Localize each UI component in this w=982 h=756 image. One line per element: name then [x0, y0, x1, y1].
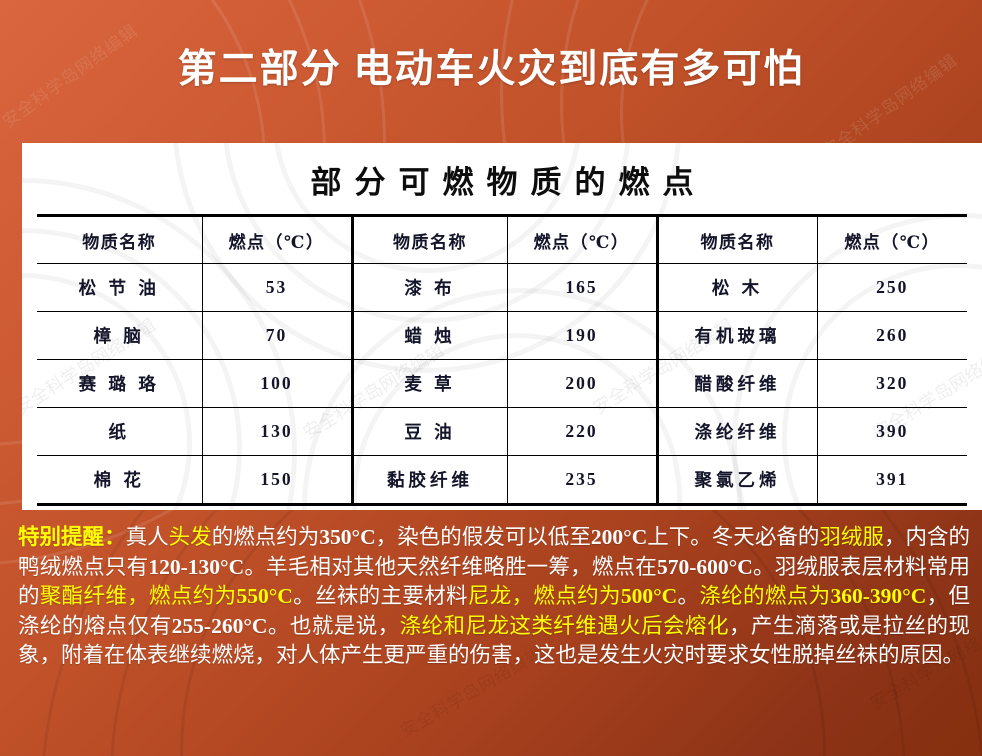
note-highlight-text: 聚酯纤维，燃点约为 [40, 584, 237, 608]
note-text: 120-130°C [148, 555, 244, 579]
substance-name-cell: 松 节 油 [37, 264, 202, 312]
table-row: 松 节 油 53 漆 布 165 松 木 250 [37, 264, 967, 312]
note-highlight-text: 特别提醒： [18, 525, 126, 549]
column-header: 燃点（℃） [202, 216, 352, 264]
substance-name-cell: 豆 油 [352, 408, 507, 456]
note-text: 。也就是说， [267, 614, 399, 638]
substance-name-cell: 松 木 [657, 264, 817, 312]
note-text: 的燃点约为 [212, 525, 320, 549]
note-highlight-text: 羽绒服 [819, 525, 884, 549]
ignition-point-cell: 391 [817, 456, 967, 505]
table-header-row: 物质名称 燃点（℃） 物质名称 燃点（℃） 物质名称 燃点（℃） [37, 216, 967, 264]
ignition-point-cell: 53 [202, 264, 352, 312]
ignition-point-cell: 390 [817, 408, 967, 456]
note-highlight-text: 头发 [169, 525, 212, 549]
column-header: 燃点（℃） [507, 216, 657, 264]
ignition-point-cell: 220 [507, 408, 657, 456]
substance-name-cell: 涤纶纤维 [657, 408, 817, 456]
note-highlight-text: 尼龙，燃点约为 [468, 584, 621, 608]
table-row: 樟 脑 70 蜡 烛 190 有机玻璃 260 [37, 312, 967, 360]
note-highlight-text: 500°C [621, 584, 677, 608]
note-text: 。丝袜的主要材料 [293, 584, 468, 608]
substance-name-cell: 纸 [37, 408, 202, 456]
table-panel: 安全科学岛网络编辑 安全科学岛网络编辑 安全科学岛网络编辑 安全科学岛网络编辑 … [22, 143, 982, 510]
page-title: 第二部分 电动车火灾到底有多可怕 [178, 38, 805, 94]
ignition-point-cell: 235 [507, 456, 657, 505]
substance-name-cell: 麦 草 [352, 360, 507, 408]
note-highlight-text: 涤纶和尼龙这类纤维遇火后会熔化 [400, 614, 729, 638]
ignition-point-cell: 190 [507, 312, 657, 360]
note-highlight-text: 360-390°C [830, 584, 926, 608]
substance-name-cell: 漆 布 [352, 264, 507, 312]
slide-root: 安全科学岛网络编辑 安全科学岛网络编辑 安全科学岛网络编辑 安全科学岛网络编辑 … [0, 0, 982, 756]
note-text: 上下。冬天必备的 [647, 525, 819, 549]
special-reminder-paragraph: 特别提醒：真人头发的燃点约为350°C，染色的假发可以低至200°C上下。冬天必… [18, 523, 970, 671]
substance-name-cell: 樟 脑 [37, 312, 202, 360]
substance-name-cell: 醋酸纤维 [657, 360, 817, 408]
note-text: 。羊毛相对其他天然纤维略胜一筹，燃点在 [244, 555, 657, 579]
column-header: 物质名称 [352, 216, 507, 264]
note-text: 200°C [591, 525, 647, 549]
ignition-point-cell: 250 [817, 264, 967, 312]
note-highlight-text: 涤纶的燃点为 [699, 584, 830, 608]
ignition-point-cell: 320 [817, 360, 967, 408]
note-text: 350°C [319, 525, 375, 549]
substance-name-cell: 赛 璐 珞 [37, 360, 202, 408]
note-text: 570-600°C [657, 555, 753, 579]
substance-name-cell: 聚氯乙烯 [657, 456, 817, 505]
ignition-point-cell: 70 [202, 312, 352, 360]
ignition-point-cell: 130 [202, 408, 352, 456]
note-text: 255-260°C [172, 614, 268, 638]
substance-name-cell: 棉 花 [37, 456, 202, 505]
ignition-point-cell: 150 [202, 456, 352, 505]
column-header: 燃点（℃） [817, 216, 967, 264]
table-row: 赛 璐 珞 100 麦 草 200 醋酸纤维 320 [37, 360, 967, 408]
table-row: 纸 130 豆 油 220 涤纶纤维 390 [37, 408, 967, 456]
ignition-point-cell: 200 [507, 360, 657, 408]
table-caption: 部分可燃物质的燃点 [22, 143, 982, 214]
column-header: 物质名称 [657, 216, 817, 264]
note-highlight-text: 550°C [236, 584, 292, 608]
ignition-point-table: 物质名称 燃点（℃） 物质名称 燃点（℃） 物质名称 燃点（℃） 松 节 油 5… [37, 214, 967, 506]
substance-name-cell: 黏胶纤维 [352, 456, 507, 505]
note-text: 。 [677, 584, 699, 608]
ignition-point-cell: 165 [507, 264, 657, 312]
slide-title-bar: 第二部分 电动车火灾到底有多可怕 [0, 38, 982, 94]
note-text: 真人 [126, 525, 169, 549]
column-header: 物质名称 [37, 216, 202, 264]
substance-name-cell: 蜡 烛 [352, 312, 507, 360]
table-row: 棉 花 150 黏胶纤维 235 聚氯乙烯 391 [37, 456, 967, 505]
note-text: ，染色的假发可以低至 [376, 525, 591, 549]
ignition-point-cell: 100 [202, 360, 352, 408]
substance-name-cell: 有机玻璃 [657, 312, 817, 360]
ignition-point-cell: 260 [817, 312, 967, 360]
